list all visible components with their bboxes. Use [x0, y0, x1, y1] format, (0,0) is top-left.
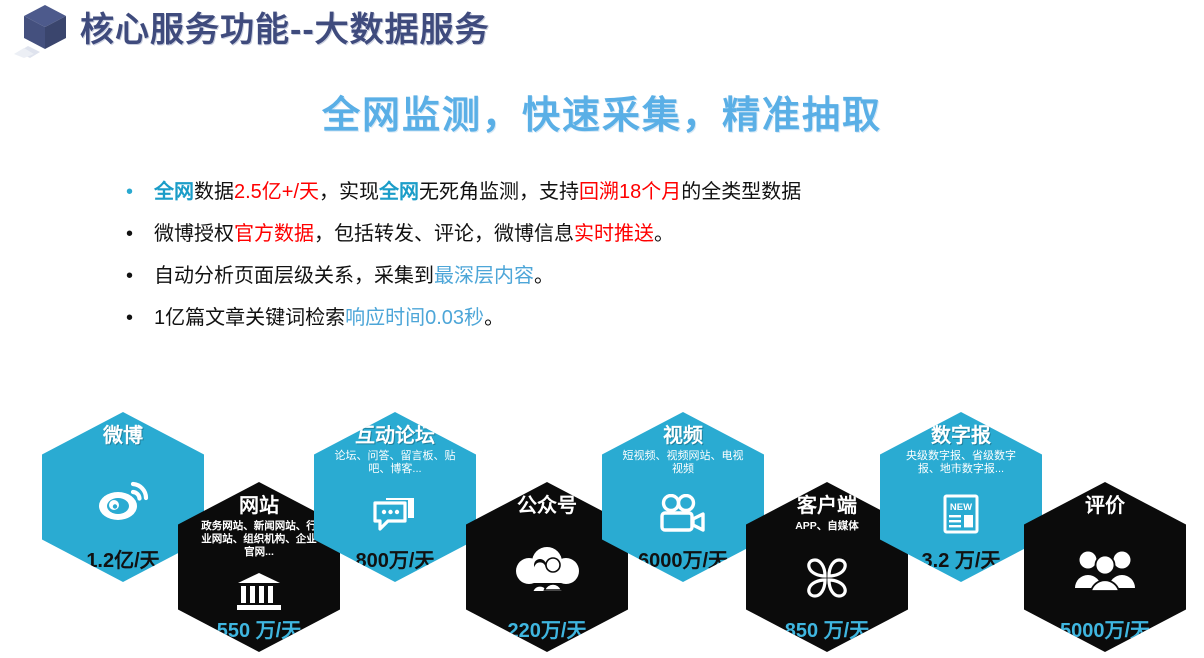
bullet-segment: 全网	[379, 181, 419, 203]
bullet-marker-icon: •	[126, 304, 154, 332]
hex-card-review[interactable]: 评价 5000万/天	[1024, 482, 1186, 652]
hex-title: 评价	[1085, 494, 1125, 518]
bullet-segment: 微博授权	[154, 223, 234, 245]
page-title: 核心服务功能--大数据服务	[80, 2, 490, 51]
bullet-segment: 。	[484, 307, 504, 329]
hex-description: 政务网站、新闻网站、行业网站、组织机构、企业官网...	[197, 520, 321, 559]
hex-value: 550 万/天	[217, 620, 301, 642]
bullet-segment: 。	[534, 265, 554, 287]
hex-title: 互动论坛	[355, 424, 435, 448]
chat-bubbles-icon	[322, 478, 468, 550]
bullet-segment: ，包括转发、评论，微博信息	[314, 223, 574, 245]
bullet-item: • 全网数据2.5亿+/天，实现全网无死角监测，支持回溯18个月的全类型数据	[126, 178, 1026, 206]
bullet-segment: 官方数据	[234, 223, 314, 245]
people-group-icon	[1032, 520, 1178, 620]
bank-building-icon	[186, 561, 332, 620]
hex-value: 850 万/天	[785, 620, 869, 642]
bullet-marker-icon: •	[126, 220, 154, 248]
bullet-item: • 1亿篇文章关键词检索响应时间0.03秒。	[126, 304, 1026, 332]
hex-title: 微博	[103, 424, 143, 448]
bullet-segment: ，实现	[319, 181, 379, 203]
bullet-segment: 。	[654, 223, 674, 245]
bullet-segment: 响应时间0.03秒	[345, 307, 484, 329]
bullet-text: 自动分析页面层级关系，采集到最深层内容。	[154, 262, 1026, 290]
bullet-segment: 全网	[154, 181, 194, 203]
video-camera-icon	[610, 478, 756, 550]
bullet-marker-icon: •	[126, 178, 154, 206]
hex-value: 220万/天	[508, 620, 587, 642]
bullet-segment: 实时推送	[574, 223, 654, 245]
hex-value: 3.2 万/天	[922, 550, 1001, 572]
hex-title: 公众号	[517, 494, 577, 518]
hex-description: 央级数字报、省级数字报、地市数字报...	[899, 450, 1023, 476]
newspaper-new-icon: NEW	[888, 478, 1034, 550]
hex-value: 5000万/天	[1060, 620, 1150, 642]
bullet-segment: 无死角监测，支持	[419, 181, 579, 203]
hex-value: 1.2亿/天	[86, 550, 159, 572]
svg-text:NEW: NEW	[950, 502, 972, 513]
bullet-segment: 的全类型数据	[681, 181, 801, 203]
bullet-text: 全网数据2.5亿+/天，实现全网无死角监测，支持回溯18个月的全类型数据	[154, 178, 1026, 206]
bullet-segment: 数据	[194, 181, 234, 203]
bullet-segment: 自动分析页面层级关系，采集到	[154, 265, 434, 287]
bullet-segment: 1亿篇文章关键词检索	[154, 307, 345, 329]
hex-title: 数字报	[931, 424, 991, 448]
bullet-segment: 最深层内容	[434, 265, 534, 287]
bullet-item: • 微博授权官方数据，包括转发、评论，微博信息实时推送。	[126, 220, 1026, 248]
bullet-item: • 自动分析页面层级关系，采集到最深层内容。	[126, 262, 1026, 290]
hex-title: 网站	[239, 494, 279, 518]
hex-value: 800万/天	[356, 550, 435, 572]
hex-description: 短视频、视频网站、电视视频	[621, 450, 745, 476]
bullet-marker-icon: •	[126, 262, 154, 290]
section-subtitle: 全网监测，快速采集，精准抽取	[0, 84, 1204, 139]
cube-icon	[14, 2, 76, 58]
channel-hexagon-row: 微博 1.2亿/天 网站 政务网站、新闻网站、行业网站、组织机构、企业官网...	[0, 406, 1204, 658]
four-petal-icon	[754, 535, 900, 620]
weibo-eye-icon	[50, 450, 196, 550]
bullet-text: 微博授权官方数据，包括转发、评论，微博信息实时推送。	[154, 220, 1026, 248]
hex-description: 论坛、问答、留言板、贴吧、博客...	[333, 450, 457, 476]
bullet-list: • 全网数据2.5亿+/天，实现全网无死角监测，支持回溯18个月的全类型数据 •…	[126, 178, 1026, 346]
hex-description: APP、自媒体	[765, 520, 889, 533]
bullet-text: 1亿篇文章关键词检索响应时间0.03秒。	[154, 304, 1026, 332]
bullet-segment: 2.5亿+/天	[234, 181, 319, 203]
page-header: 核心服务功能--大数据服务	[0, 0, 1204, 62]
bullet-segment: 回溯18个月	[579, 181, 681, 203]
hex-title: 视频	[663, 424, 703, 448]
hex-title: 客户端	[797, 494, 857, 518]
cloud-people-icon	[474, 520, 620, 620]
hex-value: 6000万/天	[638, 550, 728, 572]
